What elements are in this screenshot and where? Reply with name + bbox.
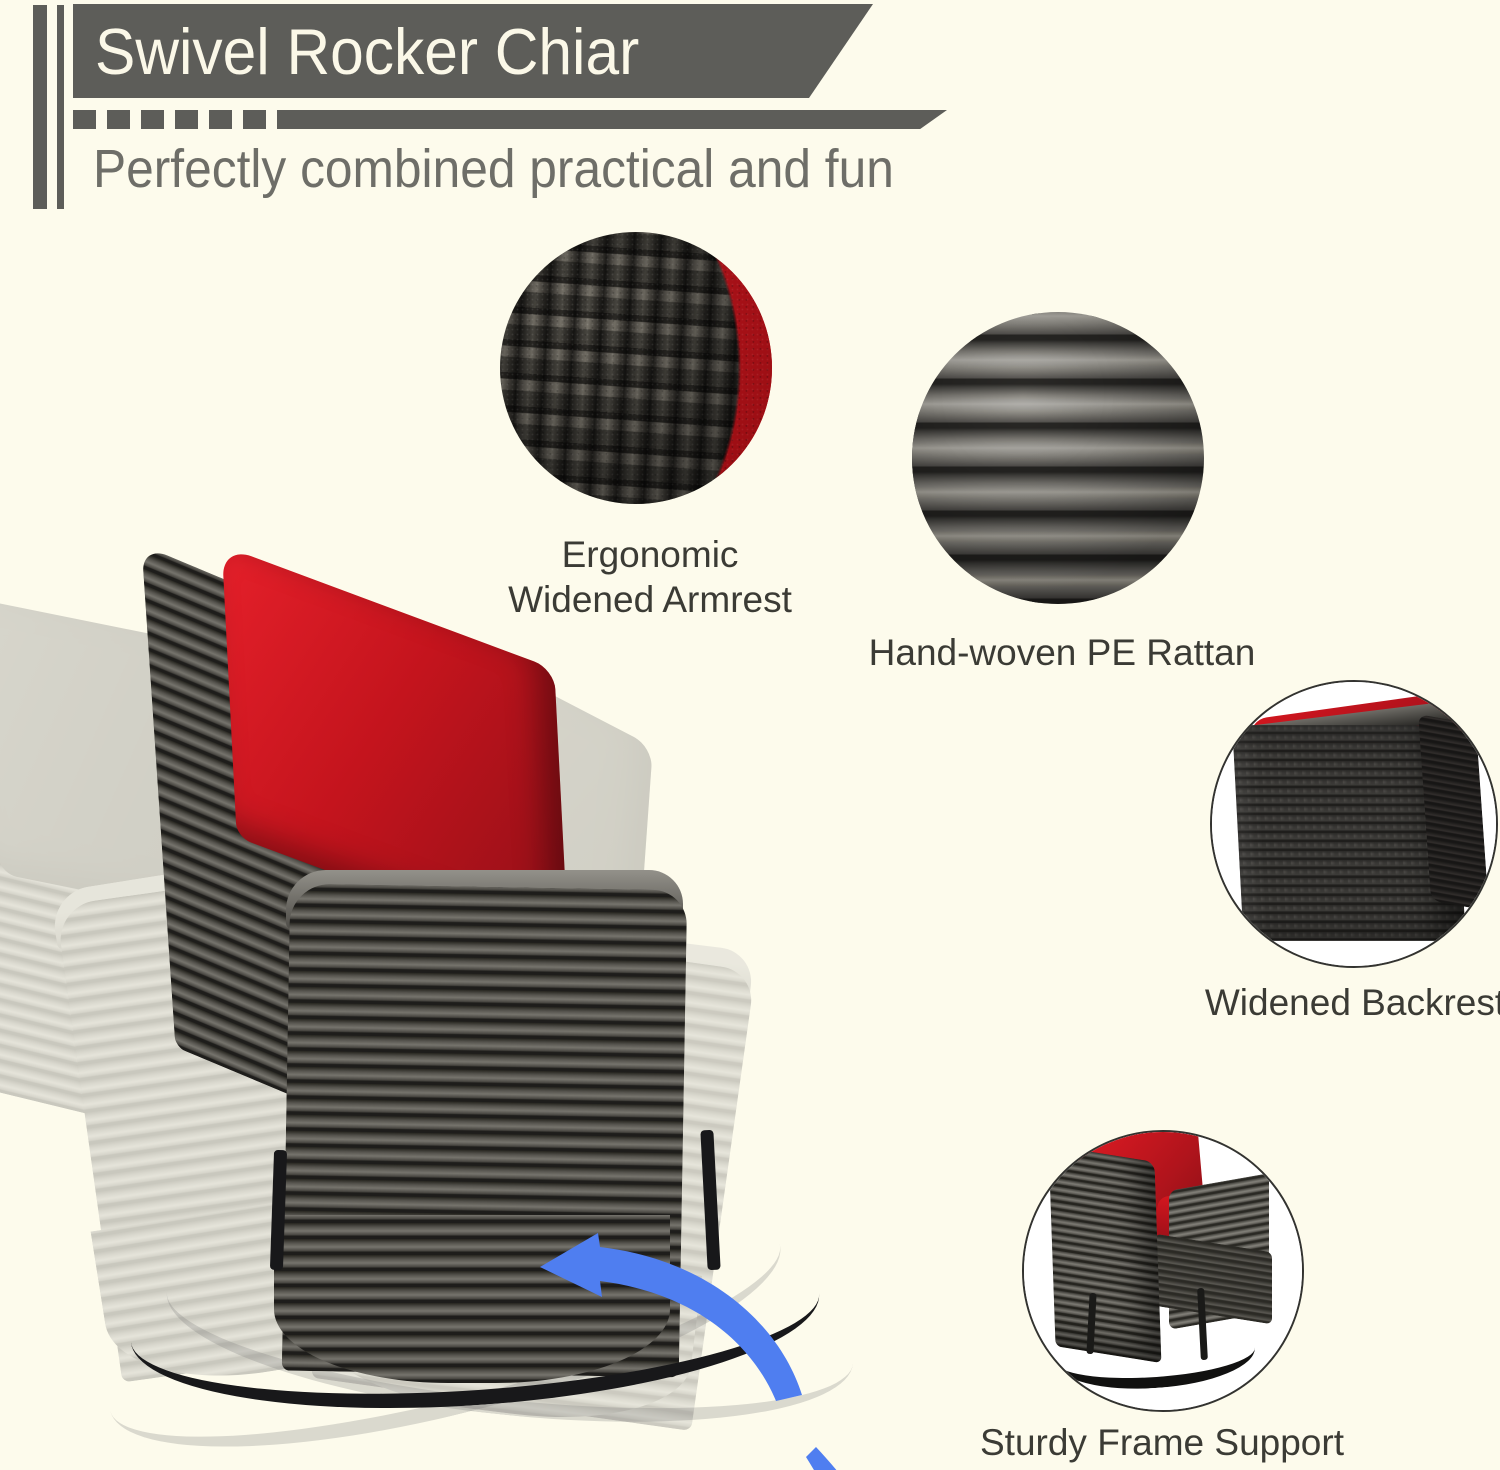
callout-backrest: Widened Backrest: [1210, 680, 1500, 968]
header: Swivel Rocker Chiar Perfectly combined p…: [0, 0, 1500, 220]
divider-solid-bar: [277, 110, 947, 129]
divider-dash: [73, 110, 96, 129]
hero-chair-illustration: [0, 540, 900, 1470]
divider-dash: [209, 110, 232, 129]
rattan-weave-texture: [912, 312, 1204, 604]
sturdy-frame-image: [1022, 1130, 1304, 1412]
callout-rattan: Hand-woven PE Rattan: [912, 312, 1232, 604]
backrest-photo-composite: [1212, 682, 1496, 966]
callout-armrest: Ergonomic Widened Armrest: [500, 232, 800, 504]
armrest-red-cushion: [500, 232, 772, 504]
widened-backrest-image: [1210, 680, 1498, 968]
divider-dash: [243, 110, 266, 129]
armrest-closeup-image: [500, 232, 772, 504]
divider-dash: [141, 110, 164, 129]
page-title: Swivel Rocker Chiar: [95, 19, 639, 84]
pe-rattan-image: [912, 312, 1204, 604]
callout-label-frame: Sturdy Frame Support: [942, 1420, 1382, 1465]
infographic-canvas: Swivel Rocker Chiar Perfectly combined p…: [0, 0, 1500, 1470]
divider-dash: [175, 110, 198, 129]
title-banner: Swivel Rocker Chiar: [73, 4, 873, 98]
header-accent-bar-thin: [57, 5, 64, 209]
callout-frame: Sturdy Frame Support: [1022, 1130, 1322, 1412]
frame-photo-composite: [1024, 1132, 1302, 1410]
page-subtitle: Perfectly combined practical and fun: [93, 140, 894, 198]
frame-rocker-rail: [1052, 1314, 1256, 1394]
armrest-weave-texture: [500, 232, 772, 504]
callout-label-armrest: Ergonomic Widened Armrest: [470, 532, 830, 622]
callout-label-backrest: Widened Backrest: [1155, 980, 1500, 1025]
callout-label-rattan: Hand-woven PE Rattan: [852, 630, 1272, 675]
rock-back-arrow-icon: [480, 1205, 810, 1415]
header-accent-bar-thick: [33, 5, 47, 209]
divider-dash: [107, 110, 130, 129]
dashed-divider: [73, 110, 947, 129]
